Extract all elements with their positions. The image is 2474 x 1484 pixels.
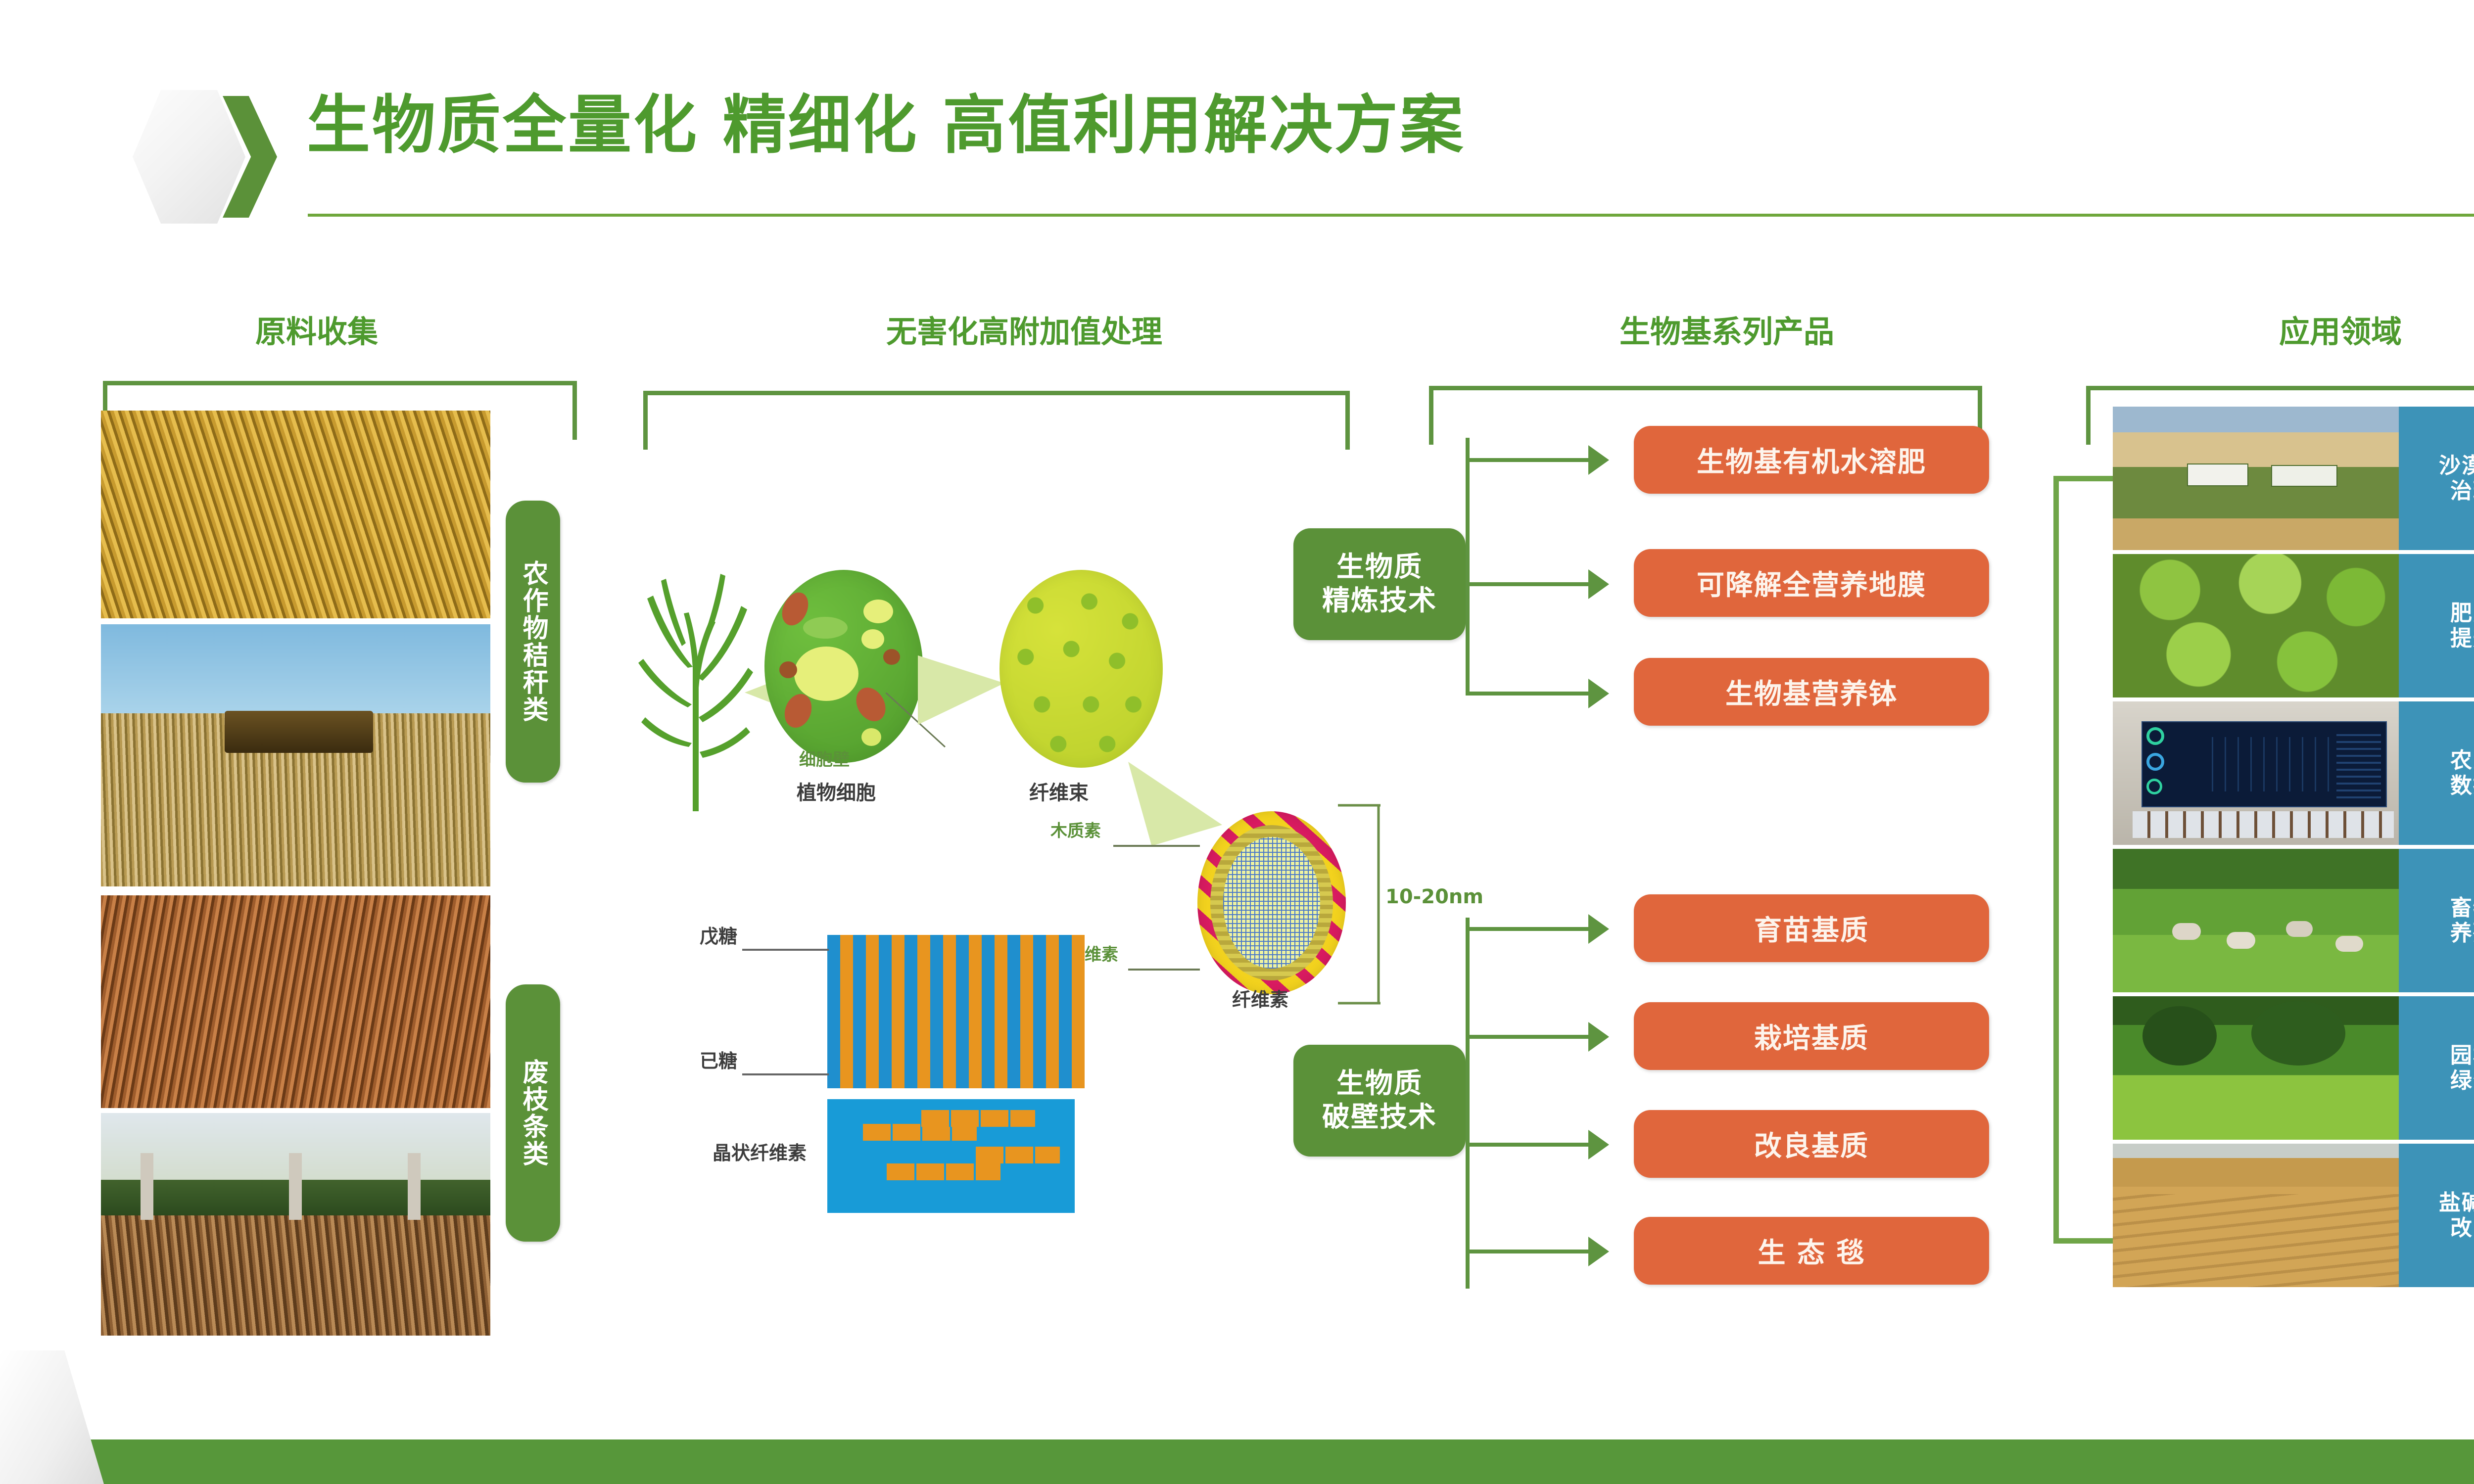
product-box-biobased-nutrient-pot[interactable]: 生物基营养钵: [1634, 658, 1989, 726]
connector-arm: [1466, 1250, 1589, 1253]
app-image-desert-control: [2113, 407, 2399, 550]
app-label-line1: 沙漠化: [2439, 453, 2474, 478]
page-title: 生物质全量化 精细化 高值利用解决方案: [307, 94, 1465, 157]
label-lignin: 木质素: [1050, 817, 1101, 841]
category-label-waste-branches: 废枝条类: [506, 984, 560, 1242]
arrow-head: [1588, 1237, 1609, 1266]
app-label-line2: 提升: [2450, 626, 2474, 651]
photo-corn-straw: [101, 411, 490, 618]
product-box-ecological-blanket[interactable]: 生 态 毯: [1634, 1217, 1989, 1285]
tree-canopy: [2251, 1001, 2345, 1066]
app-label-fertility: 肥力 提升: [2399, 554, 2474, 697]
connector-arm: [1466, 927, 1589, 931]
app-label-saline-soil: 盐碱地 改良: [2399, 1144, 2474, 1287]
label-hexose: 已糖: [700, 1046, 737, 1073]
app-label-landscaping: 园林 绿化: [2399, 996, 2474, 1140]
product-box-cultivation-substrate[interactable]: 栽培基质: [1634, 1002, 1989, 1070]
app-label-desert-control: 沙漠化 治理: [2399, 407, 2474, 550]
page-header: 生物质全量化 精细化 高值利用解决方案: [0, 0, 2474, 232]
label-cell-wall: 细胞壁: [799, 746, 850, 770]
hexagon-chevron-icon: [133, 90, 276, 224]
product-box-seedling-substrate[interactable]: 育苗基质: [1634, 894, 1989, 962]
footer-bar: [0, 1439, 2474, 1484]
vacuole: [794, 647, 858, 701]
fiber-cells-pattern: [999, 570, 1163, 768]
label-scale-10-20nm: 10-20nm: [1385, 885, 1483, 908]
label-pentose: 戊糖: [700, 921, 737, 948]
product-box-water-soluble-fertilizer[interactable]: 生物基有机水溶肥: [1634, 426, 1989, 494]
app-label-line2: 治理: [2439, 478, 2474, 504]
organelle: [863, 600, 893, 623]
straw-bale-shape: [225, 711, 373, 753]
label-crystalline-cellulose: 晶状纤维素: [713, 1138, 807, 1165]
pasture-bands: [2113, 849, 2399, 992]
photo-orchard-branches: [101, 1113, 490, 1336]
sheep: [2227, 932, 2255, 949]
sky-gradient: [101, 624, 490, 713]
app-image-data-room: [2113, 701, 2399, 845]
arrow-head: [1588, 679, 1609, 708]
category-label-crop-straw: 农作物秸秆类: [506, 501, 560, 783]
section-bracket-processing: [643, 391, 1350, 450]
label-cellulose: 纤维素: [1232, 984, 1288, 1012]
arrow-head: [1588, 1130, 1609, 1159]
donut-chart: [2146, 727, 2164, 745]
connector-vertical-refining: [1466, 438, 1470, 695]
hexagon-shape: [133, 90, 245, 224]
app-image-grazing-sheep: [2113, 849, 2399, 992]
connector-arm: [1466, 582, 1589, 586]
section-title-applications: 应用领域: [2123, 307, 2474, 351]
signboard: [2187, 464, 2248, 486]
app-image-landscape-greening: [2113, 996, 2399, 1140]
application-bracket: [2053, 476, 2118, 1244]
organelle: [883, 649, 900, 665]
cellulose-core: [1223, 837, 1320, 969]
furrow-lines: [2113, 1194, 2399, 1288]
trellis-post: [408, 1153, 421, 1220]
photo-baled-straw: [101, 624, 490, 886]
pie-chart: [2146, 753, 2164, 771]
sheep: [2286, 921, 2313, 937]
organelle: [861, 629, 884, 649]
app-label-livestock: 畜牧 养殖: [2399, 849, 2474, 992]
fiber-bundle-diagram: [999, 570, 1163, 768]
hemicellulose-leader-line: [1128, 960, 1212, 979]
arrow-head: [1588, 1022, 1609, 1052]
app-label-line1: 畜牧: [2450, 895, 2474, 921]
app-label-line2: 养殖: [2450, 921, 2474, 946]
sheep: [2335, 936, 2363, 952]
tree-canopy: [2142, 1006, 2217, 1066]
section-title-raw-material: 原料收集: [139, 307, 495, 351]
section-title-processing: 无害化高附加值处理: [638, 307, 1410, 351]
organelle: [861, 728, 881, 746]
zoom-cone-3: [1128, 762, 1222, 846]
app-label-agricultural-data: 农业 数据: [2399, 701, 2474, 845]
label-plant-cell: 植物细胞: [797, 777, 876, 805]
stats-panel: [2336, 729, 2381, 798]
app-label-line1: 盐碱地: [2439, 1190, 2474, 1215]
glucose-chain: [887, 1163, 1000, 1180]
glucose-chain: [976, 1147, 1060, 1163]
trellis-post: [141, 1153, 153, 1220]
video-wall: [2141, 721, 2387, 807]
cellulose-cross-section: [1197, 811, 1346, 994]
map-panel: [2212, 737, 2331, 791]
sheep: [2172, 923, 2201, 940]
label-fiber-bundle: 纤维束: [1029, 777, 1089, 805]
scale-caliper: [1331, 801, 1385, 1009]
tech-box-refining[interactable]: 生物质 精炼技术: [1293, 528, 1466, 640]
photo-pruned-branches: [101, 895, 490, 1108]
tech-label-line2: 破壁技术: [1322, 1101, 1437, 1134]
product-box-biodegradable-mulch-film[interactable]: 可降解全营养地膜: [1634, 549, 1989, 617]
connector-arm: [1466, 1035, 1589, 1039]
arrow-head: [1588, 914, 1609, 944]
app-label-line1: 园林: [2450, 1043, 2474, 1068]
trellis-post: [289, 1153, 302, 1220]
product-box-improvement-substrate[interactable]: 改良基质: [1634, 1110, 1989, 1178]
signboard: [2271, 465, 2337, 487]
glucose-chain: [921, 1110, 1035, 1127]
lignin-leader-line: [1113, 836, 1212, 856]
footer-wedge-shape: [0, 1350, 104, 1484]
donut-chart: [2146, 779, 2162, 794]
app-label-line1: 肥力: [2450, 601, 2474, 626]
app-label-line1: 农业: [2450, 748, 2474, 773]
organelle: [779, 661, 797, 678]
arrow-head: [1588, 445, 1609, 475]
tech-box-wall-breaking[interactable]: 生物质 破壁技术: [1293, 1045, 1466, 1157]
app-label-line2: 绿化: [2450, 1068, 2474, 1093]
app-image-saline-soil: [2113, 1144, 2399, 1287]
pentose-leader-line: [742, 940, 836, 960]
connector-arm: [1466, 458, 1589, 462]
section-title-products: 生物基系列产品: [1455, 307, 1999, 351]
connector-arm: [1466, 692, 1589, 696]
console-desk: [2133, 811, 2394, 838]
app-label-line2: 改良: [2439, 1215, 2474, 1241]
tech-label-line1: 生物质: [1322, 551, 1437, 584]
organelle: [803, 617, 848, 639]
title-underline: [308, 214, 2474, 217]
scene-bands: [2113, 407, 2399, 550]
tech-label-line2: 精炼技术: [1322, 584, 1437, 618]
rice-plant-icon: [618, 519, 767, 811]
arrow-head: [1588, 569, 1609, 599]
app-image-cabbage-field: [2113, 554, 2399, 697]
mitochondrion: [851, 682, 892, 726]
connector-arm: [1466, 1143, 1589, 1147]
connector-vertical-wall-breaking: [1466, 918, 1470, 1289]
crystalline-cellulose-diagram: [827, 1099, 1075, 1213]
sugar-chain-diagram: [827, 935, 1085, 1088]
hexose-leader-line: [742, 1065, 836, 1084]
app-label-line2: 数据: [2450, 773, 2474, 798]
cabbage-pattern: [2113, 554, 2399, 697]
tech-label-line1: 生物质: [1322, 1067, 1437, 1101]
